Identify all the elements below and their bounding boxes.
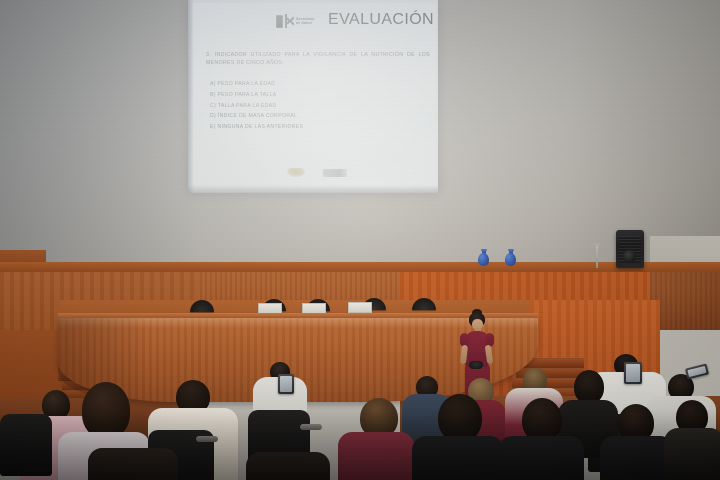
blue-vase-left [478, 249, 489, 266]
slide-title: EVALUACIÓN [328, 11, 434, 29]
tablet-device [624, 362, 642, 384]
presidium-nameplate [348, 302, 372, 313]
wordmark-logo-icon [323, 169, 347, 177]
slide-option: C) TALLA PARA LA EDAD [206, 101, 430, 112]
slide-option: B) PESO PARA LA TALLA [206, 90, 430, 101]
slide-options-list: A) PESO PARA LA EDAD B) PESO PARA LA TAL… [206, 79, 430, 132]
blue-vase-right [505, 249, 516, 266]
microphone-stand [596, 244, 598, 268]
org-logo-line2: de Salud [296, 21, 326, 25]
emblem-logo-icon [287, 168, 305, 177]
secretaria-de-salud-logo: Secretaría de Salud [276, 14, 326, 28]
screen-surface: Secretaría de Salud EVALUACIÓN 3. INDICA… [192, 3, 436, 189]
tablet-device [278, 374, 294, 394]
slide-question: 3. INDICADOR UTILIZADO PARA LA VIGILANCI… [206, 51, 430, 67]
slide-option: E) NINGUNA DE LAS ANTERIORES [206, 122, 430, 133]
screen-edge-bottom [188, 185, 438, 193]
slide-option: A) PESO PARA LA EDAD [206, 79, 430, 90]
eagle-emblem-icon [276, 15, 283, 28]
pa-speaker [616, 230, 644, 268]
k-mark-icon [285, 14, 294, 28]
slide-footer [192, 168, 442, 177]
slide-option: D) ÍNDICE DE MASA CORPORAL [206, 111, 430, 122]
projection-screen: Secretaría de Salud EVALUACIÓN 3. INDICA… [188, 0, 438, 193]
slide-body: 3. INDICADOR UTILIZADO PARA LA VIGILANCI… [206, 51, 430, 132]
slide-header: Secretaría de Salud EVALUACIÓN [192, 11, 442, 35]
org-logo-text: Secretaría de Salud [296, 17, 326, 26]
speaker-cone [623, 250, 636, 263]
audience-area [0, 352, 720, 480]
screen-edge-left [188, 0, 194, 193]
audience-floor-shadow [0, 410, 720, 480]
auditorium-photo: Secretaría de Salud EVALUACIÓN 3. INDICA… [0, 0, 720, 480]
